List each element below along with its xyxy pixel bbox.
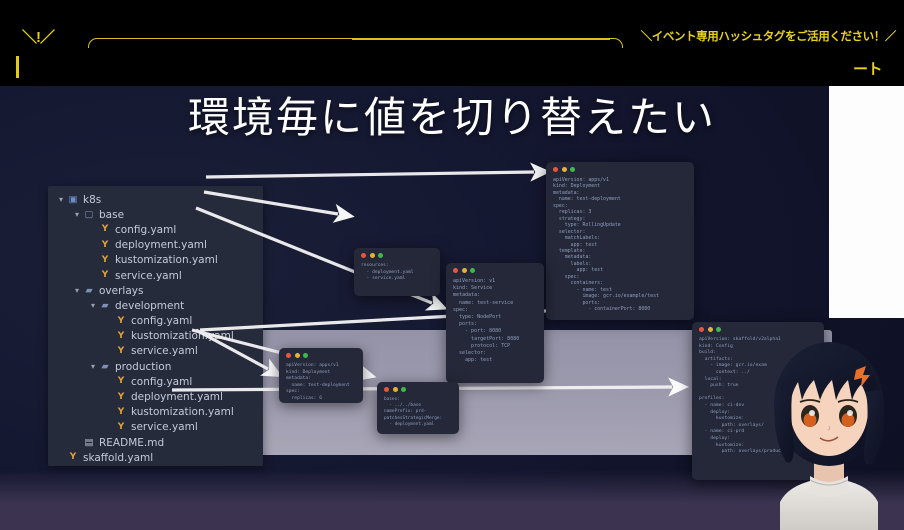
file-tree-item[interactable]: ▾Yconfig.yaml xyxy=(48,222,263,237)
code-body-service: apiVersion: v1 kind: Service metadata: n… xyxy=(453,278,538,364)
file-tree-item-label: kustomization.yaml xyxy=(112,254,218,266)
yaml-file-icon: Y xyxy=(98,271,112,280)
file-tree-item-label: overlays xyxy=(96,285,143,297)
yaml-file-icon: Y xyxy=(114,332,128,341)
slide-title: 環境毎に値を切り替えたい xyxy=(0,84,904,145)
file-tree-item[interactable]: ▾Yservice.yaml xyxy=(48,344,263,359)
code-card-deployment[interactable]: apiVersion: apps/v1 kind: Deployment met… xyxy=(546,162,694,320)
file-tree-item-label: skaffold.yaml xyxy=(80,452,153,464)
file-tree-item-label: production xyxy=(112,361,171,373)
close-dot-icon[interactable] xyxy=(384,387,389,392)
file-tree-item[interactable]: ▾▰development xyxy=(48,298,263,313)
maximize-dot-icon[interactable] xyxy=(470,268,475,273)
close-dot-icon[interactable] xyxy=(699,327,704,332)
file-tree-item-label: service.yaml xyxy=(128,345,198,357)
close-dot-icon[interactable] xyxy=(361,253,366,258)
window-dots xyxy=(286,353,357,358)
yaml-file-icon: Y xyxy=(98,225,112,234)
file-tree-item-label: README.md xyxy=(96,437,164,449)
file-tree-item-label: deployment.yaml xyxy=(128,391,223,403)
header-rule-left xyxy=(88,38,360,48)
yaml-file-icon: Y xyxy=(98,241,112,250)
minimize-dot-icon[interactable] xyxy=(562,167,567,172)
window-dots xyxy=(361,253,434,258)
yaml-file-icon: Y xyxy=(66,453,80,462)
yaml-file-icon: Y xyxy=(114,408,128,417)
maximize-dot-icon[interactable] xyxy=(401,387,406,392)
minimize-dot-icon[interactable] xyxy=(295,353,300,358)
code-card-kustomization[interactable]: resources: - deployment.yaml - service.y… xyxy=(354,248,440,296)
file-tree-item[interactable]: ▾▣k8s xyxy=(48,192,263,207)
file-tree-item[interactable]: ▾Yservice.yaml xyxy=(48,268,263,283)
maximize-dot-icon[interactable] xyxy=(303,353,308,358)
code-body-kustomization: resources: - deployment.yaml - service.y… xyxy=(361,263,434,283)
code-card-prod-deployment[interactable]: apiVersion: apps/v1 kind: Deployment met… xyxy=(279,348,363,403)
chevron-down-icon[interactable]: ▾ xyxy=(72,210,82,219)
yaml-file-icon: Y xyxy=(98,256,112,265)
yaml-file-icon: Y xyxy=(114,347,128,356)
maximize-dot-icon[interactable] xyxy=(716,327,721,332)
folder-icon: ▢ xyxy=(82,210,96,220)
file-tree-item[interactable]: ▾▰overlays xyxy=(48,283,263,298)
file-tree-item-label: service.yaml xyxy=(128,421,198,433)
window-dots xyxy=(384,387,453,392)
file-tree-item-label: base xyxy=(96,209,124,221)
file-tree-item-label: k8s xyxy=(80,194,101,206)
yaml-file-icon: Y xyxy=(114,393,128,402)
folder-icon: ▰ xyxy=(98,362,112,372)
code-body-prod-kustomization: bases: - ../../base namePrefix: prd- pat… xyxy=(384,397,453,428)
file-tree-item-label: development xyxy=(112,300,184,312)
file-tree-item[interactable]: ▾Yservice.yaml xyxy=(48,420,263,435)
code-card-service[interactable]: apiVersion: v1 kind: Service metadata: n… xyxy=(446,263,544,383)
markdown-file-icon: ▤ xyxy=(82,438,96,448)
file-tree-item[interactable]: ▾▢base xyxy=(48,207,263,222)
file-tree-item-label: config.yaml xyxy=(128,376,192,388)
folder-open-icon: ▣ xyxy=(66,195,80,205)
header-rule-right xyxy=(605,38,623,48)
file-tree-panel[interactable]: ▾▣k8s▾▢base▾Yconfig.yaml▾Ydeployment.yam… xyxy=(48,186,263,466)
close-dot-icon[interactable] xyxy=(286,353,291,358)
file-tree-item[interactable]: ▾Yconfig.yaml xyxy=(48,314,263,329)
file-tree-item[interactable]: ▾Ykustomization.yaml xyxy=(48,405,263,420)
file-tree-item[interactable]: ▾▰production xyxy=(48,359,263,374)
file-tree-item-label: config.yaml xyxy=(112,224,176,236)
header-rule-mid xyxy=(352,38,610,40)
header-right-label: ート xyxy=(853,58,882,79)
close-dot-icon[interactable] xyxy=(553,167,558,172)
file-tree-item-label: kustomization.yaml xyxy=(128,406,234,418)
window-dots xyxy=(553,167,688,172)
folder-icon: ▰ xyxy=(82,286,96,296)
minimize-dot-icon[interactable] xyxy=(708,327,713,332)
avatar xyxy=(752,330,904,530)
yaml-file-icon: Y xyxy=(114,317,128,326)
side-white-panel xyxy=(829,86,904,318)
chevron-down-icon[interactable]: ▾ xyxy=(88,362,98,371)
code-card-prod-kustomization[interactable]: bases: - ../../base namePrefix: prd- pat… xyxy=(377,382,459,434)
window-dots xyxy=(453,268,538,273)
file-tree-item[interactable]: ▾▤README.md xyxy=(48,435,263,450)
file-tree-item-label: kustomization.yaml xyxy=(128,330,234,342)
chevron-down-icon[interactable]: ▾ xyxy=(56,195,66,204)
file-tree-rows: ▾▣k8s▾▢base▾Yconfig.yaml▾Ydeployment.yam… xyxy=(48,192,263,465)
broadcast-header: ＼!／ ＼イベント専用ハッシュタグをご活用ください！／ ート xyxy=(0,0,904,86)
code-body-deployment: apiVersion: apps/v1 kind: Deployment met… xyxy=(553,177,688,313)
file-tree-item-label: service.yaml xyxy=(112,270,182,282)
file-tree-item[interactable]: ▾Ydeployment.yaml xyxy=(48,389,263,404)
header-accent-bar xyxy=(16,56,19,78)
file-tree-item[interactable]: ▾Ykustomization.yaml xyxy=(48,329,263,344)
file-tree-item[interactable]: ▾Ydeployment.yaml xyxy=(48,238,263,253)
stream-screen: 環境毎に値を切り替えたい ▾▣k8s▾▢base▾Yconfig.yaml▾Yd… xyxy=(0,0,904,530)
minimize-dot-icon[interactable] xyxy=(393,387,398,392)
yaml-file-icon: Y xyxy=(114,377,128,386)
minimize-dot-icon[interactable] xyxy=(370,253,375,258)
code-body-prod-deployment: apiVersion: apps/v1 kind: Deployment met… xyxy=(286,363,357,402)
maximize-dot-icon[interactable] xyxy=(570,167,575,172)
chevron-down-icon[interactable]: ▾ xyxy=(72,286,82,295)
file-tree-item[interactable]: ▾Yskaffold.yaml xyxy=(48,450,263,465)
file-tree-item[interactable]: ▾Ykustomization.yaml xyxy=(48,253,263,268)
file-tree-item-label: config.yaml xyxy=(128,315,192,327)
sparkle-emphasis-icon: ＼!／ xyxy=(22,28,56,48)
folder-icon: ▰ xyxy=(98,301,112,311)
minimize-dot-icon[interactable] xyxy=(462,268,467,273)
file-tree-item-label: deployment.yaml xyxy=(112,239,207,251)
file-tree-item[interactable]: ▾Yconfig.yaml xyxy=(48,374,263,389)
maximize-dot-icon[interactable] xyxy=(378,253,383,258)
close-dot-icon[interactable] xyxy=(453,268,458,273)
chevron-down-icon[interactable]: ▾ xyxy=(88,301,98,310)
hashtag-note: ＼イベント専用ハッシュタグをご活用ください！／ xyxy=(641,28,896,44)
yaml-file-icon: Y xyxy=(114,423,128,432)
